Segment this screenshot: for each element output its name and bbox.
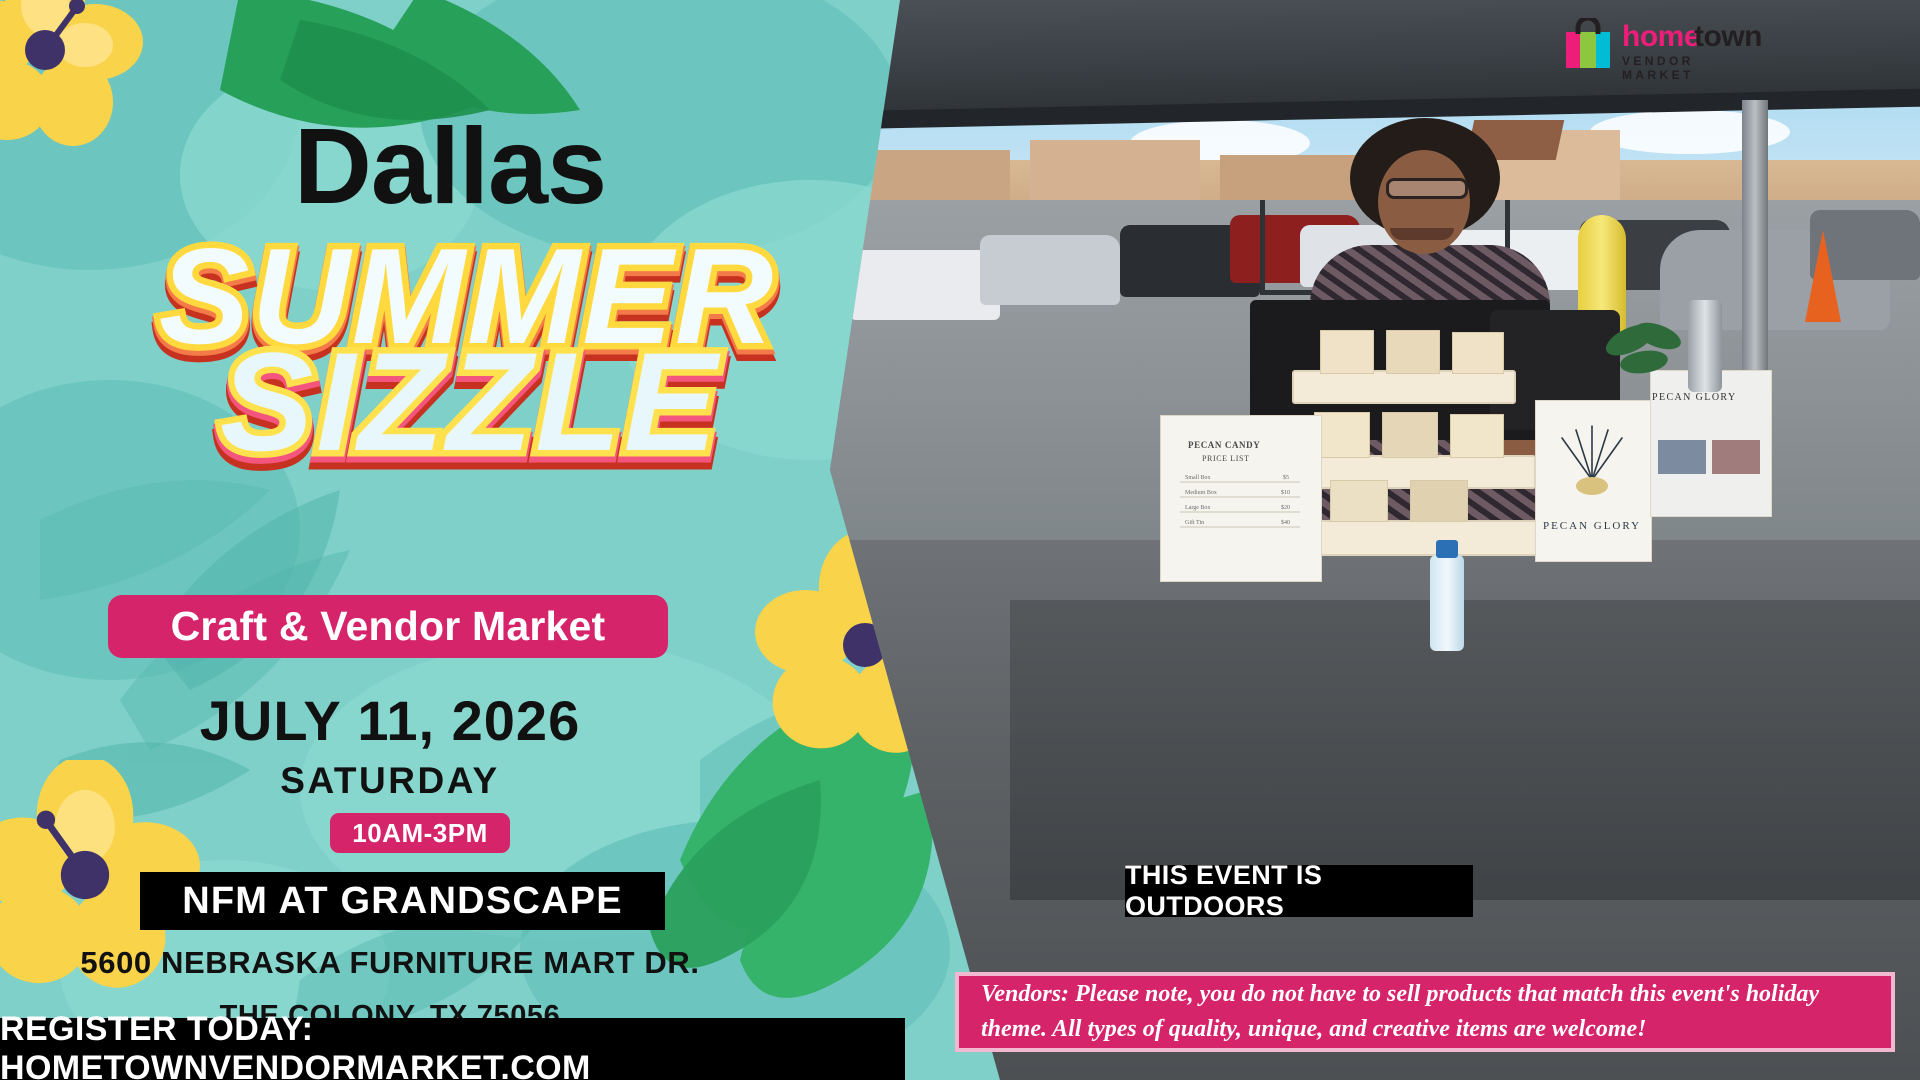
product-box	[1386, 330, 1440, 374]
register-banner[interactable]: REGISTER TODAY: HOMETOWNVENDORMARKET.COM	[0, 1018, 905, 1080]
logo-brand-part1: home	[1622, 20, 1700, 54]
register-text: REGISTER TODAY: HOMETOWNVENDORMARKET.COM	[0, 1010, 905, 1080]
shopping-bag-icon	[1560, 18, 1616, 68]
pecan-glory-banner-text: PECAN GLORY	[1542, 520, 1642, 532]
canopy-pole	[1742, 100, 1768, 400]
subtitle-text: Craft & Vendor Market	[171, 603, 606, 650]
product-box	[1410, 480, 1468, 522]
price-rows: Small Box$5 Medium Box$10 Large Box$20 G…	[1175, 470, 1305, 540]
vendor-table	[1010, 600, 1920, 900]
logo-brand-part2: town	[1694, 20, 1762, 54]
product-box	[1382, 412, 1438, 458]
flyer-text-content: Dallas SUMMER SUMMER SUMMER SUMMER SIZZL…	[0, 0, 1000, 1080]
smile	[1390, 228, 1454, 240]
svg-text:$10: $10	[1281, 489, 1290, 496]
event-weekday: SATURDAY	[0, 760, 780, 802]
vendor-note-box: Vendors: Please note, you do not have to…	[955, 972, 1895, 1052]
product-box	[1450, 414, 1504, 458]
city-title: Dallas	[0, 112, 900, 220]
venue-name: NFM AT GRANDSCAPE	[182, 880, 623, 923]
tumbler	[1688, 300, 1722, 392]
event-time: 10AM-3PM	[352, 818, 487, 849]
side-banner-text: PECAN GLORY	[1652, 392, 1737, 403]
logo-tagline: VENDOR MARKET	[1622, 54, 1770, 82]
venue-banner: NFM AT GRANDSCAPE	[140, 872, 665, 930]
car	[980, 235, 1120, 305]
product-box	[1320, 330, 1374, 374]
svg-text:Small Box: Small Box	[1185, 475, 1211, 481]
flyer-canvas: PECAN CANDY PRICE LIST Small Box$5 Mediu…	[0, 0, 1920, 1080]
hometown-vendor-market-logo: home town VENDOR MARKET	[1560, 14, 1770, 72]
svg-text:$5: $5	[1283, 474, 1289, 481]
price-list-title: PECAN CANDY	[1188, 440, 1260, 450]
outdoors-notice-text: THIS EVENT IS OUTDOORS	[1125, 860, 1473, 922]
event-time-badge: 10AM-3PM	[330, 813, 510, 853]
hand-sanitizer-bottle	[1430, 555, 1464, 651]
sanitizer-pump	[1436, 540, 1458, 558]
plant-icon	[1600, 300, 1690, 390]
sizzle-headline: SIZZLE SIZZLE SIZZLE SIZZLE	[90, 332, 850, 482]
photo-thumb	[1712, 440, 1760, 474]
product-box	[1330, 480, 1388, 522]
svg-text:$40: $40	[1281, 519, 1290, 526]
sunburst-icon	[1542, 420, 1642, 510]
address-line-1: 5600 NEBRASKA FURNITURE MART DR.	[0, 945, 780, 981]
photo-thumb	[1658, 440, 1706, 474]
svg-text:Gift Tin: Gift Tin	[1185, 519, 1204, 526]
svg-text:Medium Box: Medium Box	[1185, 490, 1217, 496]
sizzle-face-layer: SIZZLE	[90, 332, 850, 472]
svg-text:Large Box: Large Box	[1185, 505, 1210, 511]
product-box	[1314, 412, 1370, 458]
event-date: JULY 11, 2026	[0, 688, 780, 753]
svg-text:$20: $20	[1281, 504, 1290, 511]
subtitle-banner: Craft & Vendor Market	[108, 595, 668, 658]
price-list-subtitle: PRICE LIST	[1202, 454, 1250, 463]
outdoors-notice-banner: THIS EVENT IS OUTDOORS	[1125, 865, 1473, 917]
eyeglasses	[1386, 178, 1468, 199]
vendor-note-text: Vendors: Please note, you do not have to…	[981, 977, 1869, 1047]
display-shelf	[1292, 370, 1516, 404]
product-box	[1452, 332, 1504, 374]
traffic-cone	[1805, 230, 1841, 322]
